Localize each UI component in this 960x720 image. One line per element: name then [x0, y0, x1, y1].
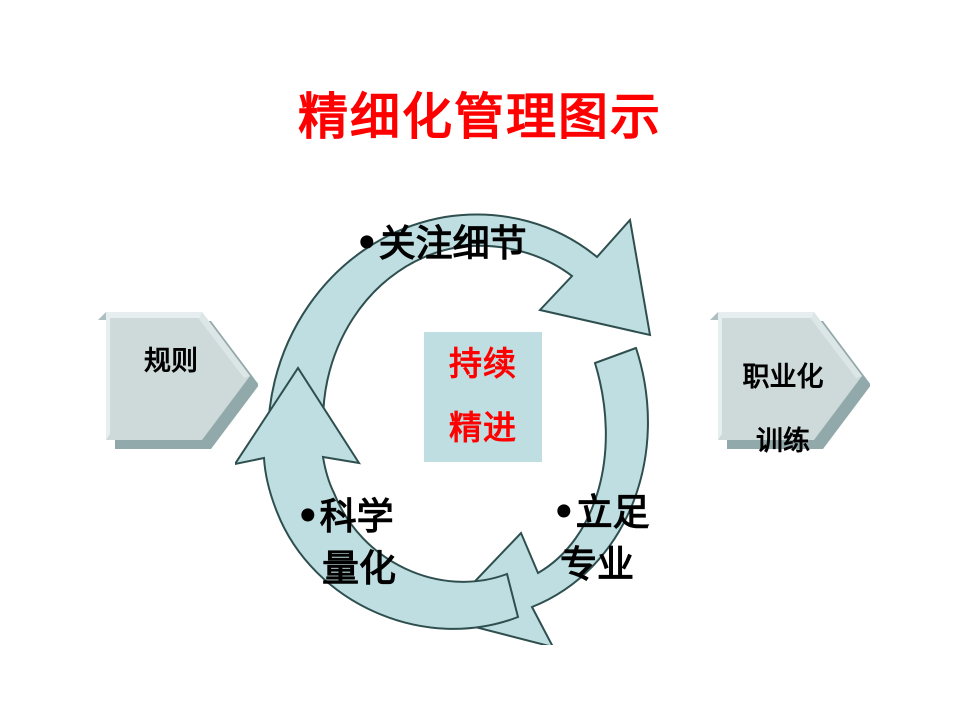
center-hub-line2: 精进	[449, 410, 517, 446]
center-hub-box[interactable]: 持续 精进	[424, 332, 542, 462]
cycle-label-focus-on-details: •关注细节	[355, 222, 527, 264]
cycle-label-line1: 科学	[320, 494, 394, 538]
cycle-label-scientific-quantification: •科学 量化	[296, 438, 456, 646]
rules-box[interactable]: 规则	[88, 288, 258, 463]
bullet-marker: •	[296, 494, 320, 538]
professional-training-line2: 训练	[756, 426, 810, 457]
cycle-label-text: 关注细节	[379, 221, 527, 265]
bullet-marker: •	[552, 490, 576, 534]
professional-training-box[interactable]: 职业化 训练	[700, 288, 870, 463]
rules-box-label: 规则	[106, 346, 236, 378]
bullet-marker: •	[355, 221, 379, 265]
center-hub-line1: 持续	[449, 346, 517, 382]
professional-training-box-label: 职业化 训练	[718, 330, 848, 458]
page-title: 精细化管理图示	[0, 88, 960, 146]
professional-training-line1: 职业化	[743, 362, 824, 393]
cycle-label-based-on-profession: •立足 专业	[552, 434, 682, 642]
cycle-label-line2: 专业	[552, 538, 682, 590]
cycle-label-line1: 立足	[576, 490, 650, 534]
slide-canvas: 精细化管理图示 •关注细节 •科学 量化 •立足 专业 持续 精进	[0, 0, 960, 720]
cycle-label-line2: 量化	[296, 542, 456, 594]
